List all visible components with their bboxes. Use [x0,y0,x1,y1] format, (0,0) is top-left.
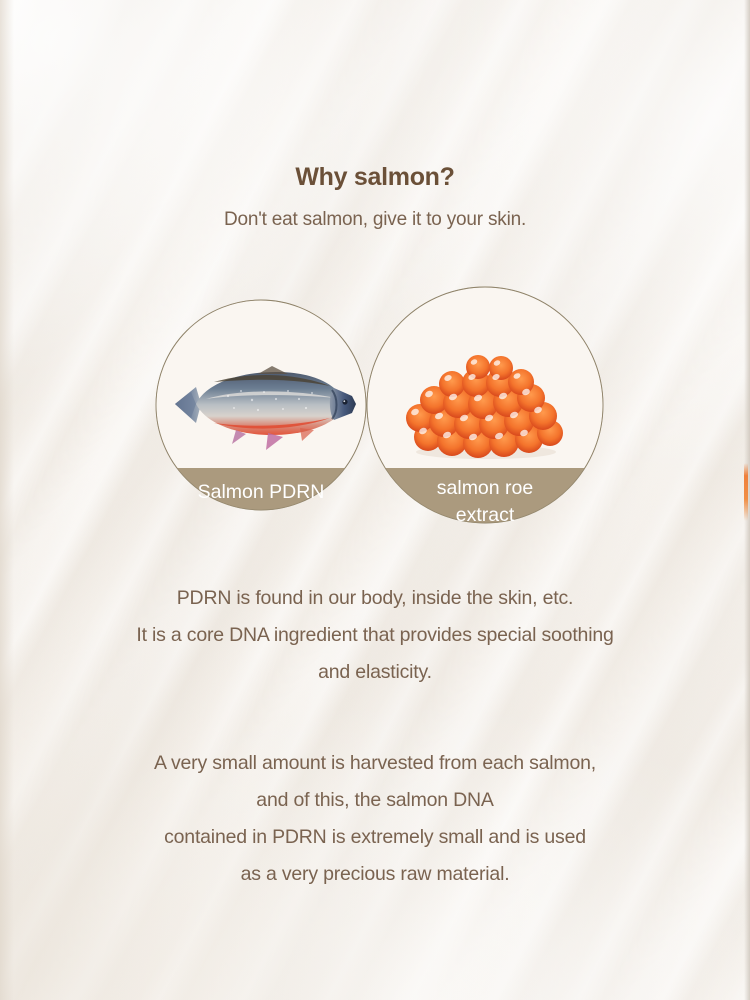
body-line: as a very precious raw material. [0,856,750,893]
body-line: A very small amount is harvested from ea… [0,745,750,782]
body-line: PDRN is found in our body, inside the sk… [0,580,750,617]
body-paragraph-2: A very small amount is harvested from ea… [0,745,750,893]
body-line: contained in PDRN is extremely small and… [0,819,750,856]
body-paragraph-1: PDRN is found in our body, inside the sk… [0,580,750,691]
body-line: It is a core DNA ingredient that provide… [0,617,750,654]
venn-left-band [140,468,390,538]
venn-right-label-line2: extract [456,504,515,526]
product-detail-page: Why salmon? Don't eat salmon, give it to… [0,0,750,1000]
venn-left-label: Salmon PDRN [198,481,325,503]
venn-right-label-line1: salmon roe [437,477,533,499]
body-line: and of this, the salmon DNA [0,782,750,819]
body-line: and elasticity. [0,654,750,691]
